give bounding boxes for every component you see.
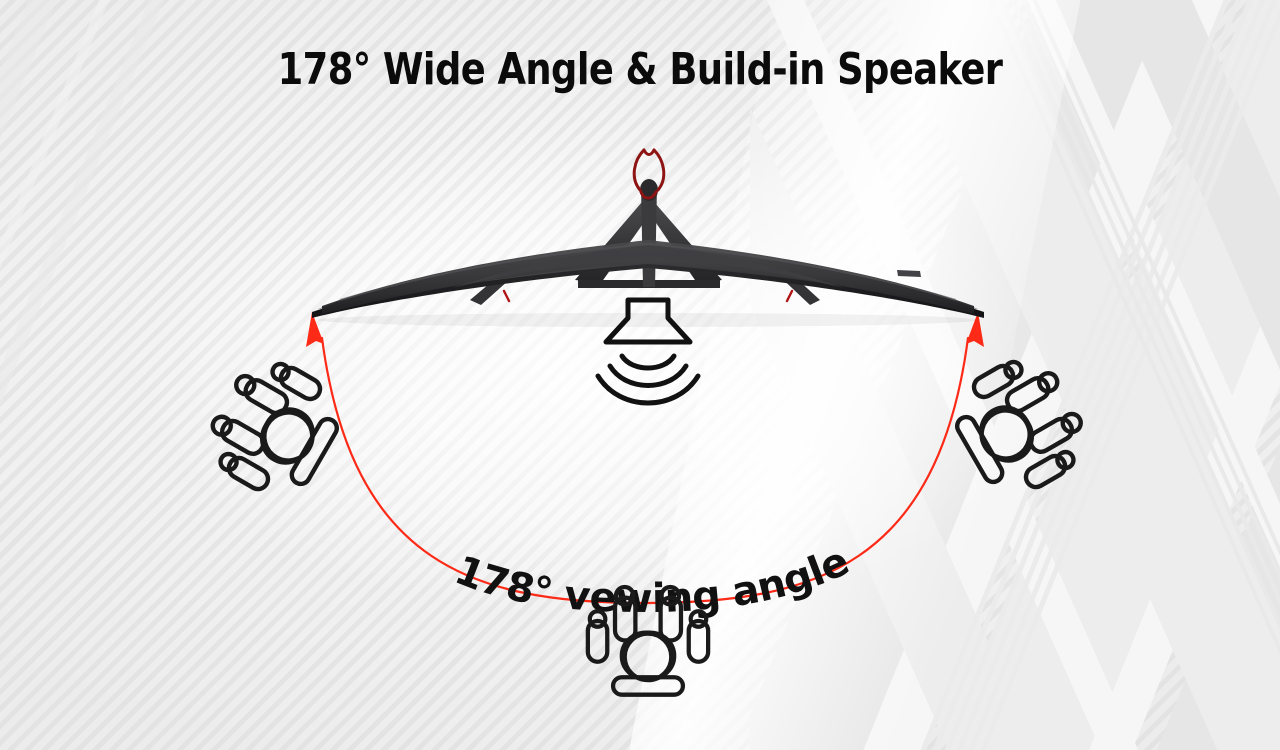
speaker-wave-1 [622, 356, 674, 368]
stand-column [641, 186, 657, 287]
speaker-wave-3 [598, 376, 698, 403]
person-seated-topdown-icon [941, 345, 1099, 508]
diagram-artwork: 178° vewing angle [0, 0, 1280, 750]
monitor-port-nub [897, 270, 921, 277]
viewer-right [941, 345, 1099, 508]
infographic-canvas: 178° Wide Angle & Build-in Speaker [0, 0, 1280, 750]
monitor-accent-right [787, 291, 792, 301]
monitor-accent-left [504, 291, 509, 301]
viewer-left [195, 347, 353, 510]
person-seated-topdown-icon [195, 347, 353, 510]
viewing-angle-label: 178° vewing angle [449, 538, 856, 622]
viewing-angle-arc [306, 312, 984, 603]
monitor-shadow [318, 313, 978, 327]
viewing-angle-label-text: 178° vewing angle [449, 538, 856, 622]
